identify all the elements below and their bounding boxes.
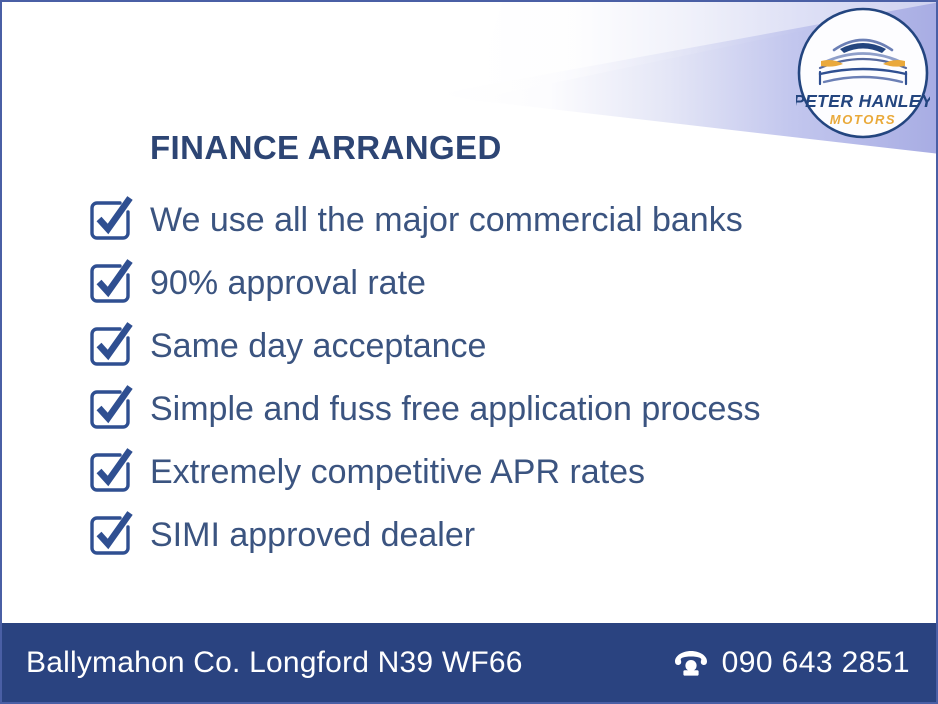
- checkbox-checked-icon: [84, 507, 136, 559]
- main-content: FINANCE ARRANGED We use all the major co…: [84, 130, 896, 566]
- list-item: Same day acceptance: [84, 314, 896, 377]
- list-item-label: Extremely competitive APR rates: [150, 455, 645, 489]
- checkbox-checked-icon: [84, 255, 136, 307]
- logo-brand-name: PETER HANLEY: [796, 91, 930, 111]
- footer-phone-number: 090 643 2851: [722, 646, 910, 680]
- page-title: FINANCE ARRANGED: [150, 130, 896, 166]
- footer-bar: Ballymahon Co. Longford N39 WF66 090 643…: [2, 623, 936, 702]
- footer-address: Ballymahon Co. Longford N39 WF66: [26, 646, 523, 680]
- checkbox-checked-icon: [84, 444, 136, 496]
- list-item: 90% approval rate: [84, 251, 896, 314]
- checkbox-checked-icon: [84, 381, 136, 433]
- list-item-label: SIMI approved dealer: [150, 518, 475, 552]
- list-item-label: Simple and fuss free application process: [150, 392, 760, 426]
- list-item-label: Same day acceptance: [150, 329, 486, 363]
- list-item: SIMI approved dealer: [84, 503, 896, 566]
- list-item: Extremely competitive APR rates: [84, 440, 896, 503]
- telephone-icon: [673, 648, 709, 678]
- list-item-label: We use all the major commercial banks: [150, 203, 743, 237]
- list-item-label: 90% approval rate: [150, 266, 426, 300]
- checkbox-checked-icon: [84, 192, 136, 244]
- finance-advert-card: PETER HANLEY MOTORS FINANCE ARRANGED We …: [0, 0, 938, 704]
- feature-list: We use all the major commercial banks 90…: [84, 188, 896, 566]
- checkbox-checked-icon: [84, 318, 136, 370]
- list-item: Simple and fuss free application process: [84, 377, 896, 440]
- logo-brand-sub: MOTORS: [830, 112, 896, 127]
- company-logo: PETER HANLEY MOTORS: [796, 6, 930, 140]
- list-item: We use all the major commercial banks: [84, 188, 896, 251]
- footer-contact[interactable]: 090 643 2851: [673, 646, 910, 680]
